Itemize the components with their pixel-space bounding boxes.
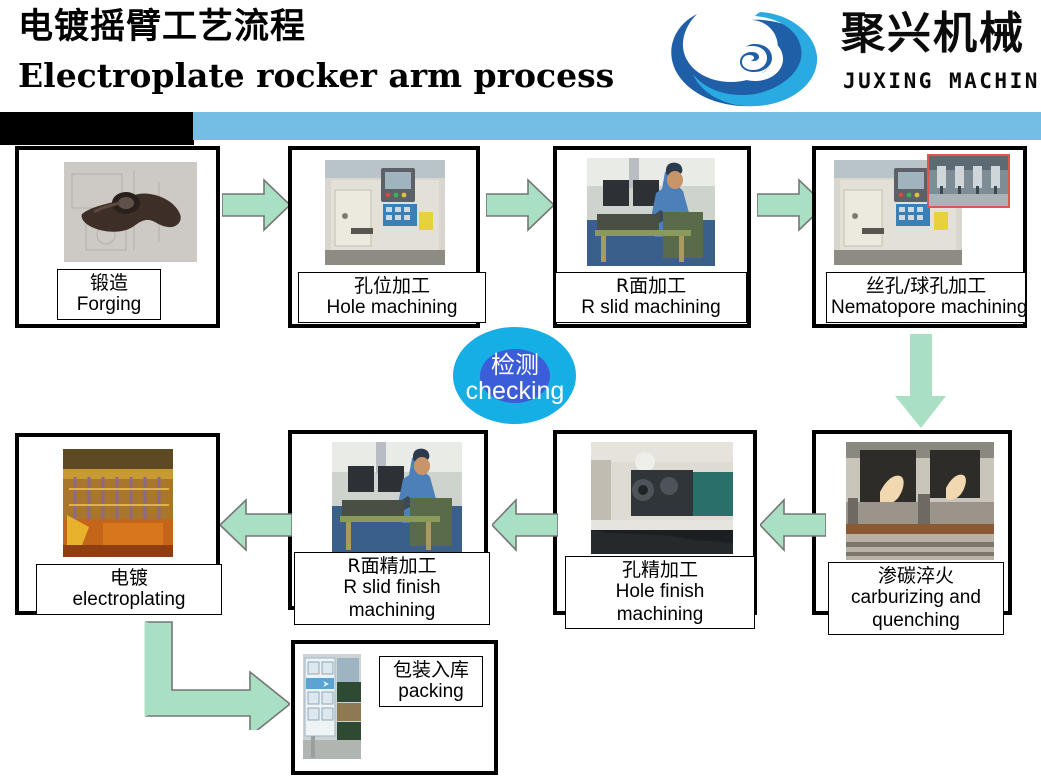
worker-at-machine-photo: [587, 158, 715, 266]
step-label-cn: R面精加工: [299, 555, 485, 577]
checkpoint-label-cn: 检测: [439, 353, 591, 378]
forged-rocker-arm-photo: [64, 162, 197, 262]
step-box-forging[interactable]: 锻造 Forging: [15, 146, 220, 328]
warehouse-crates-photo: [303, 654, 361, 759]
step-label-cn: 锻造: [62, 272, 156, 294]
step-box-hole-finish[interactable]: 孔精加工 Hole finish machining: [553, 430, 757, 615]
worker-at-machine-photo: [332, 442, 462, 554]
step-label-r-slid-machining: R面加工 R slid machining: [555, 272, 747, 323]
step-label-cn: 孔精加工: [570, 559, 750, 581]
step-label-electroplating: 电镀 electroplating: [36, 564, 222, 615]
step-label-hole-machining: 孔位加工 Hole machining: [298, 272, 486, 323]
step-label-en: Forging: [62, 294, 156, 316]
step-label-en: packing: [384, 681, 478, 703]
checkpoint-node[interactable]: 检测 checking: [453, 327, 576, 424]
step-box-r-slid-finish[interactable]: R面精加工 R slid finish machining: [288, 430, 488, 610]
company-logo: 聚兴机械 JUXING MACHINERY: [663, 2, 1041, 114]
logo-name-cn: 聚兴机械: [841, 12, 1025, 56]
arrow-forging-to-hole: [222, 178, 292, 232]
process-flow-diagram: 电镀摇臂工艺流程 Electroplate rocker arm process…: [0, 0, 1041, 781]
electroplating-line-photo: [63, 449, 173, 557]
step-box-packing[interactable]: 包装入库 packing: [291, 640, 498, 775]
step-box-electroplating[interactable]: 电镀 electroplating: [15, 433, 220, 615]
header-bar-black: [0, 112, 194, 145]
step-label-cn: 丝孔/球孔加工: [831, 275, 1021, 297]
step-box-nematopore[interactable]: 丝孔/球孔加工 Nematopore machining: [812, 146, 1027, 328]
arrow-nematopore-to-carburizing: [893, 334, 949, 430]
arrow-holefinish-to-rslidfinish: [492, 498, 558, 552]
step-label-en: carburizing and quenching: [833, 587, 999, 632]
cnc-lathe-photo: [325, 160, 445, 265]
step-label-r-slid-finish: R面精加工 R slid finish machining: [294, 552, 490, 625]
step-label-en: Hole finish machining: [570, 581, 750, 626]
step-label-hole-finish: 孔精加工 Hole finish machining: [565, 556, 755, 629]
arrow-hole-to-rslid: [486, 178, 556, 232]
checkpoint-label: 检测 checking: [439, 353, 591, 404]
step-label-cn: 孔位加工: [303, 275, 481, 297]
arrow-electroplating-to-packing: [110, 620, 290, 730]
checkpoint-label-en: checking: [439, 378, 591, 404]
grinding-machine-photo: [591, 442, 733, 554]
page-title-en: Electroplate rocker arm process: [18, 58, 614, 94]
arrow-rslidfinish-to-electroplating: [220, 498, 292, 552]
inset-drilling-photo: [927, 154, 1010, 208]
step-label-packing: 包装入库 packing: [379, 656, 483, 707]
step-label-en: R slid finish machining: [299, 577, 485, 622]
step-label-cn: R面加工: [560, 275, 742, 297]
step-box-carburizing[interactable]: 渗碳淬火 carburizing and quenching: [812, 430, 1012, 615]
step-label-carburizing: 渗碳淬火 carburizing and quenching: [828, 562, 1004, 635]
step-label-forging: 锻造 Forging: [57, 269, 161, 320]
step-box-hole-machining[interactable]: 孔位加工 Hole machining: [288, 146, 480, 328]
furnace-photo: [846, 442, 994, 560]
page-title-cn: 电镀摇臂工艺流程: [18, 10, 306, 45]
step-label-cn: 包装入库: [384, 659, 478, 681]
step-label-cn: 渗碳淬火: [833, 565, 999, 587]
step-label-en: electroplating: [41, 589, 217, 611]
logo-name-en: JUXING MACHINERY: [843, 71, 1041, 92]
step-box-r-slid-machining[interactable]: R面加工 R slid machining: [553, 146, 751, 328]
step-label-cn: 电镀: [41, 567, 217, 589]
step-label-nematopore: 丝孔/球孔加工 Nematopore machining: [826, 272, 1026, 323]
juxing-swirl-icon: [663, 2, 833, 110]
step-label-en: Nematopore machining: [831, 297, 1021, 319]
header-bar-blue: [193, 112, 1041, 140]
step-label-en: Hole machining: [303, 297, 481, 319]
step-label-en: R slid machining: [560, 297, 742, 319]
arrow-carburizing-to-holefinish: [760, 498, 826, 552]
